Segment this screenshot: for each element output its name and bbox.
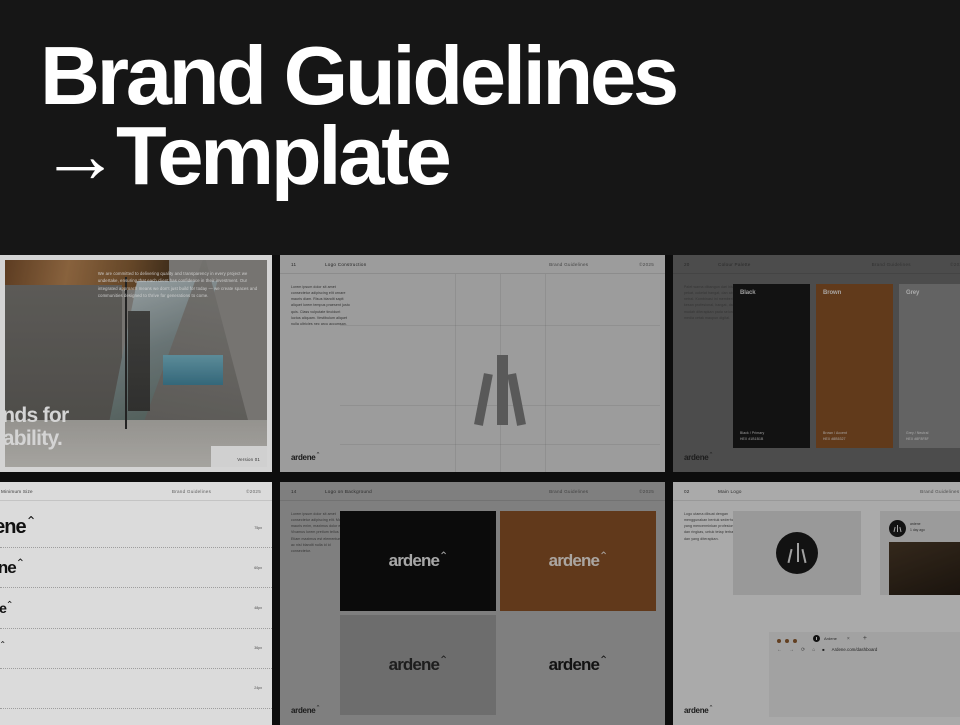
hero-title-line-2-text: Template: [116, 116, 449, 196]
slide-doc-title: Brand Guidelines: [549, 489, 588, 494]
slide-wordmark: ardene⌃: [684, 453, 713, 462]
tile-mark-icon: ⌃: [439, 550, 447, 562]
slide-overlay-paragraph: We are committed to delivering quality a…: [98, 270, 261, 299]
slide-canvas: We are committed to delivering quality a…: [0, 255, 272, 472]
tile-logo-text: ardene: [389, 655, 439, 674]
maximize-window-icon[interactable]: [793, 639, 797, 643]
post-meta: ardene 1 day ago: [910, 521, 925, 534]
slide-doc-title: Brand Guidelines: [549, 262, 588, 267]
minimum-size-row: ardene⌃ 24px: [0, 669, 272, 709]
swatch-meta: Grey / Neutral HEX #8F8F8F: [906, 431, 929, 443]
row-logo: ardene⌃: [0, 558, 24, 578]
colour-swatch-row: Black Black / Primary HEX #1B1B1B Brown …: [733, 284, 960, 448]
colour-swatch-grey[interactable]: Grey Grey / Neutral HEX #8F8F8F: [899, 284, 960, 448]
photo-door-frame: [125, 277, 127, 429]
circular-logo-mark-icon: [776, 532, 818, 574]
colour-swatch-black[interactable]: Black Black / Primary HEX #1B1B1B: [733, 284, 810, 448]
slide-title: Colour Palette: [718, 262, 751, 267]
swatch-name: Grey: [906, 290, 919, 296]
url-text: Ardene.com/dashboard: [832, 647, 878, 652]
wordmark-mark-icon: ⌃: [708, 452, 713, 458]
browser-address-bar[interactable]: ← → ⟳ ⌂ ■ Ardene.com/dashboard: [777, 645, 960, 654]
slide-copyright: ©2025: [950, 262, 960, 267]
slide-thumbnail-logo-construction[interactable]: 11 Logo Construction Brand Guidelines ©2…: [280, 255, 665, 472]
mark-right-stroke: [507, 373, 526, 426]
row-logo-text: ardene: [0, 516, 26, 538]
slide-canvas: 20 Colour Palette Brand Guidelines ©2025…: [673, 255, 960, 472]
tab-title: Ardene: [824, 636, 837, 641]
tile-logo: ardene⌃: [549, 655, 608, 675]
logo-background-grid: ardene⌃ ardene⌃ ardene⌃ ardene⌃: [340, 511, 656, 715]
slide-copyright: ©2025: [246, 489, 261, 494]
wordmark-mark-icon: ⌃: [315, 705, 320, 711]
row-size-label: 24px: [254, 686, 262, 690]
row-logo: ardene⌃: [0, 516, 36, 539]
mark-right-stroke: [899, 527, 901, 533]
minimum-size-row: ardene⌃ 75px: [0, 508, 272, 548]
hero-title-block: Brand Guidelines → Template: [40, 36, 740, 195]
swatch-hex: HEX #8F8F8F: [906, 437, 929, 443]
hero-title-line-2: → Template: [40, 116, 740, 196]
slide-canvas: 14 Logo on Background Brand Guidelines ©…: [280, 482, 665, 725]
hero-title-line-1: Brand Guidelines: [40, 36, 740, 116]
mark-center-bar: [897, 525, 898, 532]
row-logo: ardene⌃: [0, 641, 5, 655]
slide-thumbnail-main-logo[interactable]: 02 Main Logo Brand Guidelines Logo utama…: [673, 482, 960, 725]
post-image: [889, 542, 960, 595]
photo-pool: [163, 355, 223, 385]
slide-doc-title: Brand Guidelines: [172, 489, 211, 494]
swatch-hex: HEX #8B5327: [823, 437, 847, 443]
photo-door: [128, 311, 150, 411]
reload-icon[interactable]: ⟳: [801, 647, 805, 653]
tile-mark-icon: ⌃: [439, 654, 447, 666]
minimum-size-row: ardene⌃ 36px: [0, 629, 272, 669]
slide-header: 11 Logo Construction Brand Guidelines ©2…: [280, 255, 665, 274]
slide-page-number: 02: [684, 489, 718, 494]
slide-thumbnail-hero-photo[interactable]: We are committed to delivering quality a…: [0, 255, 272, 472]
row-size-label: 48px: [254, 606, 262, 610]
mark-center-bar: [797, 543, 799, 562]
swatch-name: Brown: [823, 290, 841, 296]
minimize-window-icon[interactable]: [785, 639, 789, 643]
logo-tile-black: ardene⌃: [340, 511, 496, 611]
tile-logo: ardene⌃: [389, 551, 448, 571]
logo-tile-brown: ardene⌃: [500, 511, 656, 611]
slide-doc-title: Brand Guidelines: [920, 489, 959, 494]
row-mark-icon: ⌃: [0, 640, 5, 649]
arrow-right-icon: →: [40, 117, 114, 194]
slide-headline: stands for reliability.: [0, 404, 69, 450]
slide-canvas: 02 Main Logo Brand Guidelines Logo utama…: [673, 482, 960, 725]
browser-mockup: Ardene × + ← → ⟳ ⌂ ■ Ardene.com/dashboar…: [769, 632, 960, 717]
slide-thumbnail-colour-palette[interactable]: 20 Colour Palette Brand Guidelines ©2025…: [673, 255, 960, 472]
row-mark-icon: ⌃: [16, 557, 24, 569]
slide-headline-line-1: stands for: [0, 404, 69, 427]
tile-logo: ardene⌃: [549, 551, 608, 571]
wordmark-mark-icon: ⌃: [708, 705, 713, 711]
logo-tile-grey: ardene⌃: [340, 615, 496, 715]
mark-left-stroke: [893, 527, 895, 533]
swatch-hex: HEX #1B1B1B: [740, 437, 764, 443]
slide-copyright: ©2025: [639, 262, 654, 267]
slide-headline-line-2: reliability.: [0, 427, 69, 450]
slide-title: Main Logo: [718, 489, 742, 494]
row-mark-icon: ⌃: [6, 599, 13, 609]
row-mark-icon: ⌃: [26, 513, 36, 528]
slide-header: 20 Colour Palette Brand Guidelines ©2025: [673, 255, 960, 274]
minimum-size-row: ardene⌃ 60px: [0, 548, 272, 588]
slide-header: 14 Logo on Background Brand Guidelines ©…: [280, 482, 665, 501]
slide-title: Logo Construction: [325, 262, 367, 267]
tile-logo-text: ardene: [549, 551, 599, 570]
wordmark-text: ardene: [684, 453, 708, 462]
presentation-cover-page: Brand Guidelines → Template We are c: [0, 0, 960, 725]
row-size-label: 75px: [254, 526, 262, 530]
slide-page-number: 14: [291, 489, 325, 494]
wordmark-mark-icon: ⌃: [315, 452, 320, 458]
forward-icon[interactable]: →: [789, 647, 794, 653]
tile-logo-text: ardene: [549, 655, 599, 674]
logo-tile-light: ardene⌃: [500, 615, 656, 715]
slide-canvas: 11 Logo Construction Brand Guidelines ©2…: [280, 255, 665, 472]
logo-mark-construction: [464, 355, 536, 425]
row-logo: ardene⌃: [0, 600, 12, 616]
slide-header: Minimum Size Brand Guidelines ©2025: [0, 482, 272, 501]
avatar: [889, 520, 906, 537]
row-size-label: 36px: [254, 646, 262, 650]
minimum-size-row: ardene⌃ 48px: [0, 588, 272, 628]
slide-canvas: Minimum Size Brand Guidelines ©2025 arde…: [0, 482, 272, 725]
home-icon[interactable]: ⌂: [812, 647, 815, 653]
social-post-mockup: ardene 1 day ago: [880, 511, 960, 595]
tile-mark-icon: ⌃: [599, 654, 607, 666]
close-tab-icon[interactable]: ×: [847, 636, 850, 642]
back-icon[interactable]: ←: [777, 647, 782, 653]
swatch-meta: Brown / Accent HEX #8B5327: [823, 431, 847, 443]
tile-logo: ardene⌃: [389, 655, 448, 675]
slide-thumbnail-grid: We are committed to delivering quality a…: [0, 255, 960, 725]
slide-wordmark: ardene⌃: [291, 453, 320, 462]
logo-construction-grid: [340, 274, 660, 472]
swatch-meta: Black / Primary HEX #1B1B1B: [740, 431, 764, 443]
mark-center-bar: [497, 355, 508, 425]
wordmark-text: ardene: [684, 706, 708, 715]
lock-icon: ■: [822, 647, 824, 652]
mark-right-stroke: [802, 549, 807, 563]
tile-mark-icon: ⌃: [599, 550, 607, 562]
window-traffic-lights[interactable]: [777, 639, 797, 643]
slide-thumbnail-logo-on-background[interactable]: 14 Logo on Background Brand Guidelines ©…: [280, 482, 665, 725]
slide-wordmark: ardene⌃: [684, 706, 713, 715]
slide-title: Logo on Background: [325, 489, 372, 494]
version-label: Version 01: [211, 446, 272, 472]
slide-thumbnail-minimum-size[interactable]: Minimum Size Brand Guidelines ©2025 arde…: [0, 482, 272, 725]
close-window-icon[interactable]: [777, 639, 781, 643]
photo-wall: [0, 285, 122, 420]
wordmark-text: ardene: [291, 706, 315, 715]
slide-title: Minimum Size: [1, 489, 33, 494]
slide-page-number: 11: [291, 262, 325, 267]
wordmark-text: ardene: [291, 453, 315, 462]
guide-line-vertical: [455, 274, 456, 472]
mark-left-stroke: [474, 373, 493, 426]
slide-doc-title: Brand Guidelines: [872, 262, 911, 267]
row-size-label: 60px: [254, 566, 262, 570]
favicon-icon: [813, 635, 820, 642]
post-timestamp: 1 day ago: [910, 527, 925, 533]
slide-wordmark: ardene⌃: [291, 706, 320, 715]
slide-copyright: ©2025: [639, 489, 654, 494]
guide-line-vertical: [545, 274, 546, 472]
minimum-size-list: ardene⌃ 75px ardene⌃ 60px ardene⌃ 48px a…: [0, 508, 272, 709]
colour-swatch-brown[interactable]: Brown Brown / Accent HEX #8B5327: [816, 284, 893, 448]
tile-logo-text: ardene: [389, 551, 439, 570]
browser-chrome: Ardene × + ← → ⟳ ⌂ ■ Ardene.com/dashboar…: [769, 632, 960, 654]
slide-page-number: 20: [684, 262, 718, 267]
swatch-name: Black: [740, 290, 756, 296]
mark-left-stroke: [787, 549, 792, 563]
row-logo-text: ardene: [0, 558, 16, 577]
slide-header: 02 Main Logo Brand Guidelines: [673, 482, 960, 501]
new-tab-icon[interactable]: +: [863, 635, 867, 642]
main-logo-panel: [733, 511, 861, 595]
browser-tab[interactable]: Ardene × +: [813, 635, 867, 642]
